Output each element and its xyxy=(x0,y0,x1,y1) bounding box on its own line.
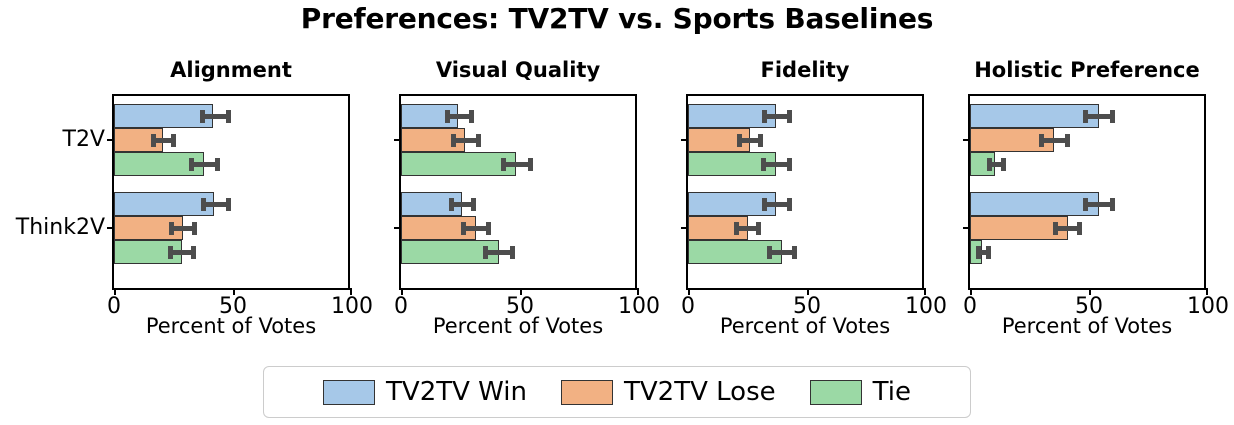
plot-area: 050100 xyxy=(686,94,924,290)
bar-win-think2v xyxy=(114,192,214,216)
panel-title: Visual Quality xyxy=(399,58,637,82)
error-bar-cap xyxy=(1110,198,1115,211)
error-bar-cap xyxy=(1065,134,1070,147)
error-bar-cap xyxy=(1039,134,1044,147)
bar-win-t2v xyxy=(114,104,213,128)
error-bar-cap xyxy=(761,158,766,171)
error-bar-cap xyxy=(476,134,481,147)
legend-swatch-lose-icon xyxy=(561,380,613,405)
error-bar-cap xyxy=(1053,222,1058,235)
error-bar-cap xyxy=(483,246,488,259)
error-bar-cap xyxy=(1083,110,1088,123)
error-bar-cap xyxy=(762,198,767,211)
error-bar-cap xyxy=(987,158,992,171)
panel-title: Fidelity xyxy=(686,58,924,82)
error-bar-cap xyxy=(215,158,220,171)
error-bar-cap xyxy=(226,110,231,123)
error-bar-cap xyxy=(226,198,231,211)
error-bar-cap xyxy=(758,134,763,147)
panels-row: AlignmentT2VThink2V050100Percent of Vote… xyxy=(0,58,1234,358)
chart-legend: TV2TV WinTV2TV LoseTie xyxy=(263,366,971,418)
error-bar-cap xyxy=(1110,110,1115,123)
bar-win-t2v xyxy=(970,104,1099,128)
ytick-mark xyxy=(681,227,688,229)
error-bar-cap xyxy=(471,198,476,211)
error-bar-cap xyxy=(451,134,456,147)
error-bar-cap xyxy=(976,246,981,259)
error-bar-cap xyxy=(200,110,205,123)
error-bar-cap xyxy=(734,222,739,235)
ytick-mark xyxy=(394,227,401,229)
error-bar-cap xyxy=(192,222,197,235)
error-bar-cap xyxy=(1077,222,1082,235)
error-bar-cap xyxy=(189,158,194,171)
error-bar-cap xyxy=(461,222,466,235)
panel-fidelity: Fidelity050100Percent of Votes xyxy=(686,58,924,358)
panel-title: Holistic Preference xyxy=(968,58,1206,82)
x-axis-label: Percent of Votes xyxy=(399,314,637,338)
error-bar-cap xyxy=(191,246,196,259)
error-bar-cap xyxy=(201,198,206,211)
error-bar-cap xyxy=(767,246,772,259)
bar-tie-t2v xyxy=(401,152,516,176)
x-axis-label: Percent of Votes xyxy=(686,314,924,338)
error-bar-cap xyxy=(528,158,533,171)
panel-title: Alignment xyxy=(112,58,350,82)
plot-area: T2VThink2V050100 xyxy=(112,94,350,290)
error-bar-cap xyxy=(762,110,767,123)
error-bar-cap xyxy=(171,134,176,147)
plot-area: 050100 xyxy=(968,94,1206,290)
error-bar-cap xyxy=(445,110,450,123)
legend-label: TV2TV Lose xyxy=(624,377,776,407)
error-bar-cap xyxy=(510,246,515,259)
error-bar-cap xyxy=(486,222,491,235)
figure-title: Preferences: TV2TV vs. Sports Baselines xyxy=(0,2,1234,35)
ytick-label-think2v: Think2V xyxy=(16,217,105,239)
error-bar-cap xyxy=(1083,198,1088,211)
error-bar-cap xyxy=(787,110,792,123)
ytick-label-t2v: T2V xyxy=(63,129,106,151)
legend-label: TV2TV Win xyxy=(386,377,527,407)
ytick-mark xyxy=(107,139,114,141)
error-bar-cap xyxy=(756,222,761,235)
error-bar-cap xyxy=(169,222,174,235)
error-bar-cap xyxy=(986,246,991,259)
panel-holistic-preference: Holistic Preference050100Percent of Vote… xyxy=(968,58,1206,358)
ytick-mark xyxy=(107,227,114,229)
panel-alignment: AlignmentT2VThink2V050100Percent of Vote… xyxy=(112,58,350,358)
legend-item-lose[interactable]: TV2TV Lose xyxy=(561,377,776,407)
error-bar-cap xyxy=(501,158,506,171)
ytick-mark xyxy=(963,139,970,141)
error-bar-cap xyxy=(792,246,797,259)
error-bar-cap xyxy=(469,110,474,123)
bar-win-think2v xyxy=(970,192,1099,216)
legend-item-tie[interactable]: Tie xyxy=(810,377,911,407)
error-bar-cap xyxy=(449,198,454,211)
legend-swatch-win-icon xyxy=(323,380,375,405)
ytick-mark xyxy=(681,139,688,141)
plot-area: 050100 xyxy=(399,94,637,290)
ytick-mark xyxy=(963,227,970,229)
error-bar-cap xyxy=(787,198,792,211)
panel-visual-quality: Visual Quality050100Percent of Votes xyxy=(399,58,637,358)
error-bar-cap xyxy=(787,158,792,171)
error-bar-cap xyxy=(1001,158,1006,171)
error-bar-cap xyxy=(151,134,156,147)
error-bar-cap xyxy=(168,246,173,259)
ytick-mark xyxy=(394,139,401,141)
legend-label: Tie xyxy=(873,377,911,407)
legend-item-win[interactable]: TV2TV Win xyxy=(323,377,527,407)
x-axis-label: Percent of Votes xyxy=(112,314,350,338)
legend-swatch-tie-icon xyxy=(810,380,862,405)
x-axis-label: Percent of Votes xyxy=(968,314,1206,338)
error-bar-cap xyxy=(737,134,742,147)
